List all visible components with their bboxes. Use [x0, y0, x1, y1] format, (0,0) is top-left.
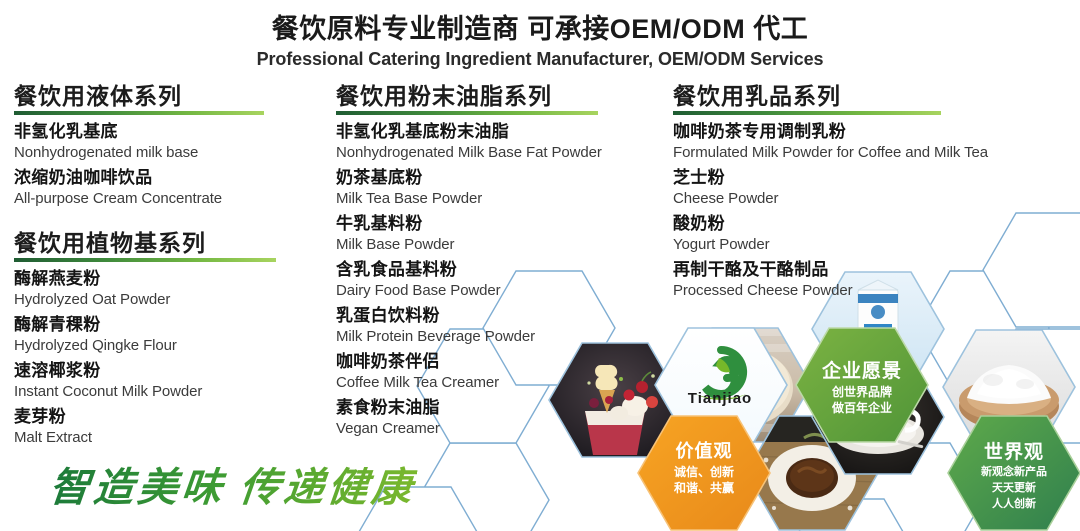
product-name-en: Instant Coconut Milk Powder — [14, 382, 324, 401]
product-name-cn: 奶茶基底粉 — [336, 167, 656, 189]
column-liquid-and-plantbase: 餐饮用液体系列 非氢化乳基底 Nonhydrogenated milk base… — [14, 82, 324, 452]
product-name-en: Hydrolyzed Qingke Flour — [14, 336, 324, 355]
product-item[interactable]: 非氢化乳基底粉末油脂 Nonhydrogenated Milk Base Fat… — [336, 121, 656, 162]
product-name-cn: 咖啡奶茶专用调制乳粉 — [673, 121, 1073, 143]
product-name-cn: 酶解燕麦粉 — [14, 268, 324, 290]
product-item[interactable]: 芝士粉 Cheese Powder — [673, 167, 1073, 208]
product-name-cn: 非氢化乳基底粉末油脂 — [336, 121, 656, 143]
product-item[interactable]: 素食粉末油脂 Vegan Creamer — [336, 397, 656, 438]
product-item[interactable]: 麦芽粉 Malt Extract — [14, 406, 324, 447]
product-item[interactable]: 牛乳基料粉 Milk Base Powder — [336, 213, 656, 254]
poster-header: 餐饮原料专业制造商 可承接OEM/ODM 代工 Professional Cat… — [0, 12, 1080, 71]
product-name-cn: 酸奶粉 — [673, 213, 1073, 235]
product-item[interactable]: 酶解青稞粉 Hydrolyzed Qingke Flour — [14, 314, 324, 355]
header-title-en: Professional Catering Ingredient Manufac… — [0, 47, 1080, 71]
product-item[interactable]: 非氢化乳基底 Nonhydrogenated milk base — [14, 121, 324, 162]
product-name-cn: 麦芽粉 — [14, 406, 324, 428]
product-item[interactable]: 咖啡奶茶伴侣 Coffee Milk Tea Creamer — [336, 351, 656, 392]
product-name-en: Milk Base Powder — [336, 235, 656, 254]
header-title-cn: 餐饮原料专业制造商 可承接OEM/ODM 代工 — [0, 12, 1080, 46]
section-liquid: 餐饮用液体系列 非氢化乳基底 Nonhydrogenated milk base… — [14, 82, 324, 208]
product-item[interactable]: 酶解燕麦粉 Hydrolyzed Oat Powder — [14, 268, 324, 309]
section-rule — [673, 111, 941, 115]
product-name-cn: 酶解青稞粉 — [14, 314, 324, 336]
product-name-en: Milk Protein Beverage Powder — [336, 327, 656, 346]
product-name-cn: 素食粉末油脂 — [336, 397, 656, 419]
product-item[interactable]: 奶茶基底粉 Milk Tea Base Powder — [336, 167, 656, 208]
section-title: 餐饮用植物基系列 — [14, 229, 324, 257]
product-item[interactable]: 乳蛋白饮料粉 Milk Protein Beverage Powder — [336, 305, 656, 346]
section-rule — [14, 111, 264, 115]
product-name-en: All-purpose Cream Concentrate — [14, 189, 324, 208]
product-item[interactable]: 含乳食品基料粉 Dairy Food Base Powder — [336, 259, 656, 300]
product-name-en: Dairy Food Base Powder — [336, 281, 656, 300]
section-rule — [336, 111, 598, 115]
product-item[interactable]: 速溶椰浆粉 Instant Coconut Milk Powder — [14, 360, 324, 401]
product-name-cn: 咖啡奶茶伴侣 — [336, 351, 656, 373]
product-name-en: Processed Cheese Powder — [673, 281, 1073, 300]
product-name-cn: 再制干酪及干酪制品 — [673, 259, 1073, 281]
product-name-en: Malt Extract — [14, 428, 324, 447]
product-item[interactable]: 酸奶粉 Yogurt Powder — [673, 213, 1073, 254]
product-name-en: Cheese Powder — [673, 189, 1073, 208]
section-title: 餐饮用液体系列 — [14, 82, 324, 110]
product-name-en: Coffee Milk Tea Creamer — [336, 373, 656, 392]
product-item[interactable]: 浓缩奶油咖啡饮品 All-purpose Cream Concentrate — [14, 167, 324, 208]
product-name-en: Nonhydrogenated Milk Base Fat Powder — [336, 143, 656, 162]
product-name-en: Yogurt Powder — [673, 235, 1073, 254]
section-plantbase: 餐饮用植物基系列 酶解燕麦粉 Hydrolyzed Oat Powder 酶解青… — [14, 229, 324, 447]
product-name-cn: 芝士粉 — [673, 167, 1073, 189]
section-title: 餐饮用粉末油脂系列 — [336, 82, 656, 110]
column-dairy: 餐饮用乳品系列 咖啡奶茶专用调制乳粉 Formulated Milk Powde… — [673, 82, 1073, 305]
product-name-cn: 含乳食品基料粉 — [336, 259, 656, 281]
product-name-cn: 速溶椰浆粉 — [14, 360, 324, 382]
product-name-cn: 浓缩奶油咖啡饮品 — [14, 167, 324, 189]
product-name-en: Milk Tea Base Powder — [336, 189, 656, 208]
product-name-cn: 非氢化乳基底 — [14, 121, 324, 143]
column-powder-fat: 餐饮用粉末油脂系列 非氢化乳基底粉末油脂 Nonhydrogenated Mil… — [336, 82, 656, 443]
product-item[interactable]: 咖啡奶茶专用调制乳粉 Formulated Milk Powder for Co… — [673, 121, 1073, 162]
product-name-en: Formulated Milk Powder for Coffee and Mi… — [673, 143, 1073, 162]
product-name-cn: 牛乳基料粉 — [336, 213, 656, 235]
product-name-en: Nonhydrogenated milk base — [14, 143, 324, 162]
poster-root: 餐饮原料专业制造商 可承接OEM/ODM 代工 Professional Cat… — [0, 0, 1080, 531]
product-name-en: Vegan Creamer — [336, 419, 656, 438]
product-name-en: Hydrolyzed Oat Powder — [14, 290, 324, 309]
slogan-calligraphy: 智造美味 传递健康 — [47, 455, 419, 513]
section-title: 餐饮用乳品系列 — [673, 82, 1073, 110]
product-item[interactable]: 再制干酪及干酪制品 Processed Cheese Powder — [673, 259, 1073, 300]
section-spacer — [14, 213, 324, 229]
section-rule — [14, 258, 276, 262]
product-name-cn: 乳蛋白饮料粉 — [336, 305, 656, 327]
